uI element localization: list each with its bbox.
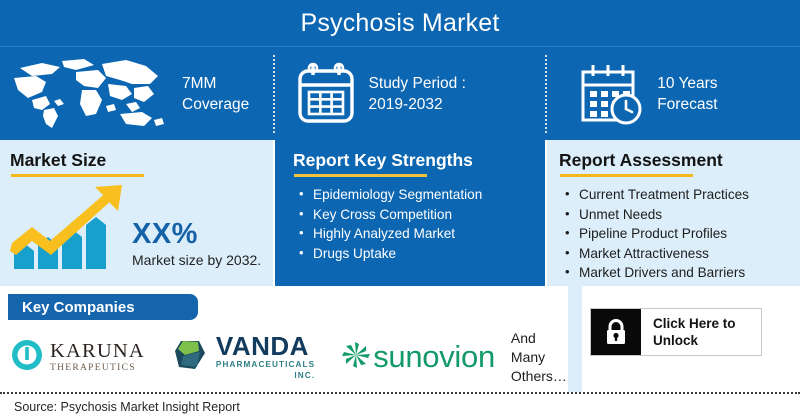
karuna-wordmark: KARUNA THERAPEUTICS	[50, 341, 145, 374]
unlock-label-line1: Click Here to	[653, 315, 736, 332]
fact-study-period-line2: 2019-2032	[369, 94, 466, 115]
unlock-button[interactable]: Click Here to Unlock	[590, 308, 762, 356]
list-item: Pipeline Product Profiles	[577, 224, 800, 244]
source-text: Source: Psychosis Market Insight Report	[0, 400, 240, 414]
logo-sunovion: sunovion	[341, 340, 495, 375]
market-size-values: XX% Market size by 2032.	[132, 219, 261, 274]
fact-forecast-text: 10 Years Forecast	[657, 73, 717, 115]
unlock-button-label[interactable]: Click Here to Unlock	[641, 309, 761, 355]
calendar-icon	[295, 61, 357, 127]
market-size-heading: Market Size	[10, 150, 273, 171]
panel-market-size: Market Size	[0, 140, 273, 286]
list-item: Key Cross Competition	[311, 205, 545, 225]
fact-coverage: 7MM Coverage	[0, 47, 273, 141]
karuna-sub: THERAPEUTICS	[50, 362, 145, 374]
karuna-mark-icon	[10, 338, 44, 377]
bottom-divider	[568, 286, 582, 392]
fact-coverage-line2: Coverage	[182, 94, 249, 115]
page-title: Psychosis Market	[300, 9, 499, 38]
key-strengths-underline	[294, 174, 427, 177]
assessment-underline	[560, 174, 693, 177]
world-map-icon	[2, 54, 170, 134]
key-companies-tag-label: Key Companies	[22, 299, 135, 316]
vanda-sub: PHARMACEUTICALS INC.	[216, 359, 315, 381]
list-item: Current Treatment Practices	[577, 185, 800, 205]
assessment-list: Current Treatment Practices Unmet Needs …	[559, 185, 800, 283]
header-bar: Psychosis Market	[0, 0, 800, 46]
market-size-body: XX% Market size by 2032.	[10, 185, 273, 274]
facts-band: 7MM Coverage	[0, 46, 800, 141]
karuna-name: KARUNA	[50, 341, 145, 362]
sunovion-name: sunovion	[373, 341, 495, 373]
key-companies-tag: Key Companies	[8, 294, 198, 320]
list-item: Drugs Uptake	[311, 244, 545, 264]
calendar-clock-icon	[579, 61, 645, 127]
many-others-line1: And Many	[511, 329, 567, 367]
unlock-label-line2: Unlock	[653, 332, 736, 349]
infographic-page: Psychosis Market	[0, 0, 800, 420]
company-logos: KARUNA THERAPEUTICS VANDA PHAR	[6, 326, 566, 388]
growth-chart-icon	[10, 185, 126, 274]
fact-study-period: Study Period : 2019-2032	[275, 47, 546, 141]
bottom-band: Key Companies KARUNA THERAPEUTIC	[0, 286, 800, 392]
vanda-wordmark: VANDA PHARMACEUTICALS INC.	[216, 333, 315, 381]
vanda-mark-icon	[169, 337, 209, 378]
fact-study-period-text: Study Period : 2019-2032	[369, 73, 466, 115]
market-size-caption: Market size by 2032.	[132, 252, 261, 268]
key-strengths-list: Epidemiology Segmentation Key Cross Comp…	[293, 185, 545, 263]
sunovion-pinwheel-icon	[341, 340, 371, 375]
many-others-line2: Others…	[511, 367, 567, 386]
unlock-section: Click Here to Unlock	[582, 286, 800, 392]
fact-forecast: 10 Years Forecast	[547, 47, 800, 141]
list-item: Highly Analyzed Market	[311, 224, 545, 244]
fact-coverage-text: 7MM Coverage	[182, 73, 249, 115]
fact-study-period-line1: Study Period :	[369, 73, 466, 94]
key-strengths-heading: Report Key Strengths	[293, 150, 545, 171]
key-companies-section: Key Companies KARUNA THERAPEUTIC	[0, 286, 568, 392]
fact-forecast-line1: 10 Years	[657, 73, 717, 94]
footer: Source: Psychosis Market Insight Report	[0, 392, 800, 420]
fact-coverage-line1: 7MM	[182, 73, 249, 94]
fact-forecast-line2: Forecast	[657, 94, 717, 115]
vanda-name: VANDA	[216, 333, 315, 359]
panel-key-strengths: Report Key Strengths Epidemiology Segmen…	[275, 140, 545, 286]
market-size-value: XX%	[132, 219, 261, 249]
and-many-others-text: And Many Others…	[511, 329, 567, 386]
list-item: Unmet Needs	[577, 205, 800, 225]
mid-panels: Market Size	[0, 140, 800, 286]
panel-report-assessment: Report Assessment Current Treatment Prac…	[547, 140, 800, 286]
list-item: Epidemiology Segmentation	[311, 185, 545, 205]
list-item: Market Attractiveness	[577, 244, 800, 264]
market-size-underline	[11, 174, 144, 177]
logo-karuna: KARUNA THERAPEUTICS	[10, 338, 145, 377]
lock-icon[interactable]	[591, 309, 641, 355]
assessment-heading: Report Assessment	[559, 150, 800, 171]
logo-vanda: VANDA PHARMACEUTICALS INC.	[169, 333, 315, 381]
list-item: Market Drivers and Barriers	[577, 263, 800, 283]
